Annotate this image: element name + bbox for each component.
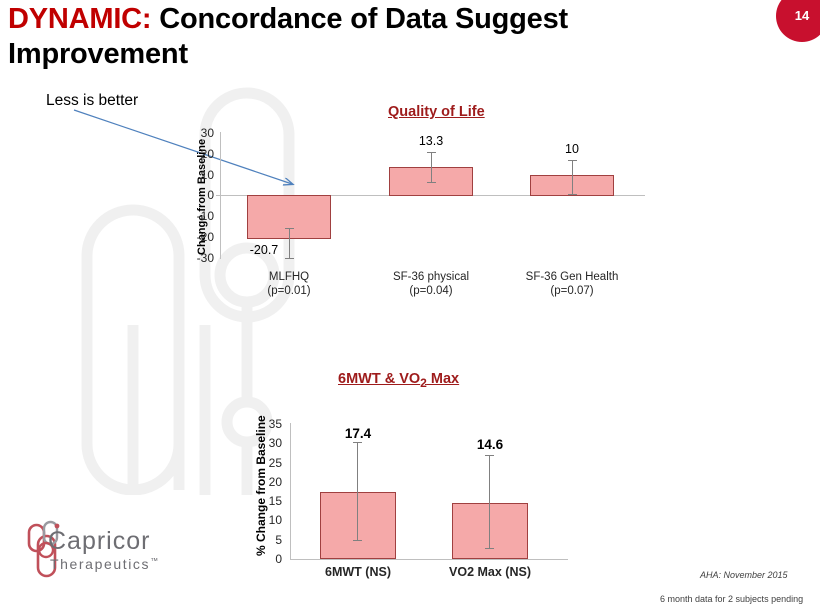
chart2-x-axis-line — [290, 559, 568, 560]
chart2-xcat-vo2max: VO2 Max (NS) — [430, 565, 550, 581]
chart2-errorbar-cap — [353, 442, 362, 443]
chart2-ytick: 35 — [258, 417, 282, 431]
chart2-errorbar-cap — [353, 540, 362, 541]
chart2-ytick: 10 — [258, 513, 282, 527]
chart2-bar-value: 17.4 — [328, 426, 388, 441]
chart2-xcat-6mwt: 6MWT (NS) — [298, 565, 418, 581]
footer-source: AHA: November 2015 — [700, 570, 788, 580]
chart2-ytick: 20 — [258, 475, 282, 489]
chart2-bar-6mwt — [320, 492, 396, 559]
chart2-title-part1: 6MWT & VO — [338, 371, 420, 387]
chart2-ytick: 5 — [258, 533, 282, 547]
chart2-ytick: 25 — [258, 456, 282, 470]
chart2-errorbar-6mwt — [357, 442, 358, 540]
chart2-ytick: 15 — [258, 494, 282, 508]
footer-note: 6 month data for 2 subjects pending — [660, 594, 803, 604]
chart2-errorbar-cap — [485, 548, 494, 549]
chart2-y-axis-line — [290, 423, 291, 560]
chart2-title-part2: Max — [427, 371, 459, 387]
chart2-bar-value: 14.6 — [460, 437, 520, 452]
trademark-icon: ™ — [150, 556, 160, 565]
chart2-ytick: 30 — [258, 436, 282, 450]
logo-tagline: Therapeutics™ — [50, 556, 160, 572]
chart2-ytick: 0 — [258, 552, 282, 566]
chart2-title-subscript: 2 — [420, 376, 427, 390]
logo-wordmark: Capricor — [48, 527, 150, 556]
chart2-bar-vo2max — [452, 503, 528, 559]
chart2-errorbar-vo2max — [489, 455, 490, 548]
logo-tagline-text: Therapeutics — [50, 556, 150, 572]
chart2-title: 6MWT & VO2 Max — [338, 371, 459, 390]
slide-canvas: DYNAMIC: Concordance of Data Suggest Imp… — [0, 0, 820, 615]
chart2-errorbar-cap — [485, 455, 494, 456]
